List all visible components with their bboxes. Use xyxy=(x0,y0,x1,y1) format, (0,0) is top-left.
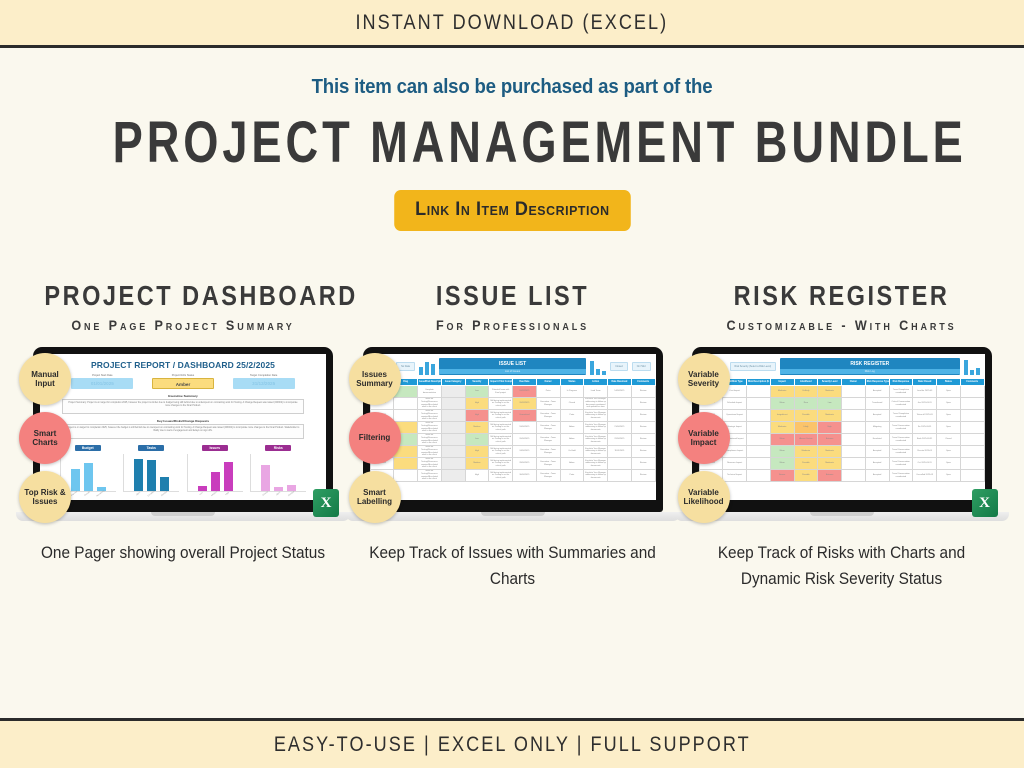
table-cell xyxy=(747,410,771,422)
card-subtitle: For Professionals xyxy=(364,317,660,333)
table-cell: Travel Completion coordinated xyxy=(889,410,913,422)
table-cell xyxy=(441,446,465,458)
feature-badges: Variable Severity Variable Impact Variab… xyxy=(678,353,730,523)
sheet-subtitle: List of Issues xyxy=(439,369,586,374)
table-cell: Adam xyxy=(560,422,584,434)
minichart-axis: LowMediumHigh xyxy=(187,493,243,495)
section-body: Project is on target for completion 2025… xyxy=(62,424,304,439)
table-cell: Potential Issue with Final project xyxy=(489,386,513,398)
card-title: RISK REGISTER xyxy=(703,280,979,312)
section-heading: Key Issues/Risks/Change Requests xyxy=(62,419,304,423)
column-header[interactable]: Owner xyxy=(842,379,866,386)
table-row[interactable]: 016/2025Schedule ImpactMinorRareLowTrans… xyxy=(699,398,984,410)
status-box-start-date: Project Start Date 01/01/2025 xyxy=(71,374,133,389)
table-row[interactable]: 017/2025Items for Testing/Resources requ… xyxy=(370,410,655,422)
minichart-bar xyxy=(147,460,156,491)
link-in-item-description-button[interactable]: Link in Item Description xyxy=(394,190,630,231)
headline-subtitle: This item can also be purchased as part … xyxy=(36,76,988,99)
table-cell: Still being implemented on Testing is on… xyxy=(489,446,513,458)
laptop-screen: Risk Severity (Select a Risk Level) RISK… xyxy=(692,347,992,512)
table-cell: Open xyxy=(937,386,961,398)
table-cell: Closed xyxy=(560,398,584,410)
table-cell: Still being implemented on Testing is on… xyxy=(489,410,513,422)
minichart-axis: ClosedOpenOverdue xyxy=(250,493,306,495)
column-header[interactable]: Due Date xyxy=(513,379,537,386)
bottom-banner: EASY-TO-USE | EXCEL ONLY | FULL SUPPORT xyxy=(0,718,1024,768)
key-issues-section: Key Issues/Risks/Change Requests Project… xyxy=(62,419,304,439)
status-box-label: Project RAG Status xyxy=(152,374,214,377)
laptop-mockup-issue-list: Issues Summary Filtering Smart Labelling… xyxy=(363,347,663,521)
table-cell: Review xyxy=(631,386,655,398)
table-row[interactable]: 020/2025Compliance ImpactMinorModerateMo… xyxy=(699,446,984,458)
table-cell: Severe xyxy=(770,470,794,482)
table-cell: In Progress xyxy=(560,386,584,398)
risk-table: ReferenceRisk/Risk TypeRisk Description … xyxy=(699,378,985,482)
column-header[interactable]: Comments xyxy=(631,379,655,386)
table-cell xyxy=(747,422,771,434)
table-cell: Still being implemented on Testing is on… xyxy=(489,422,513,434)
badge-smart-labelling: Smart Labelling xyxy=(349,471,401,523)
badge-top-risk-issues: Top Risk & Issues xyxy=(19,471,71,523)
table-cell: Open xyxy=(937,422,961,434)
table-row[interactable]: 021/2025Resource ImpactMinorPossibleMode… xyxy=(699,458,984,470)
top-banner: INSTANT DOWNLOAD (EXCEL) xyxy=(0,0,1024,48)
table-cell: Transferred xyxy=(865,398,889,410)
filter-pill[interactable]: On Hold xyxy=(632,362,651,371)
table-cell: Travel Completion coordinated xyxy=(889,386,913,398)
table-cell: Taken off 2025-03 xyxy=(913,410,937,422)
product-card-risk-register: RISK REGISTER Customizable - With Charts… xyxy=(677,280,1006,592)
product-card-project-dashboard: PROJECT DASHBOARD One Page Project Summa… xyxy=(18,280,348,592)
screen-content: Risk Severity (Select a Risk Level) RISK… xyxy=(699,354,985,500)
table-cell: Moderate xyxy=(818,410,842,422)
table-cell: 20/03/2025 xyxy=(513,398,537,410)
card-title: PROJECT DASHBOARD xyxy=(44,280,321,312)
column-header[interactable]: Severity xyxy=(465,379,489,386)
column-header[interactable]: Status xyxy=(560,379,584,386)
table-cell: Executive - Team Manager xyxy=(536,398,560,410)
card-caption: Keep Track of Risks with Charts and Dyna… xyxy=(689,541,995,592)
table-cell: Minor xyxy=(770,458,794,470)
laptop-mockup-dashboard: Manual Input Smart Charts Top Risk & Iss… xyxy=(33,347,333,521)
table-cell: 24/04/2025 xyxy=(513,446,537,458)
table-cell: Still being implemented on Testing is on… xyxy=(489,434,513,446)
table-cell: Still being implemented on Testing is on… xyxy=(489,458,513,470)
table-cell: Escalate Your Manager addressing to foll… xyxy=(584,470,608,482)
table-cell xyxy=(960,446,984,458)
table-cell: 21/04/2025 xyxy=(608,422,632,434)
table-cell: Likely xyxy=(794,422,818,434)
sheet-title-banner: ISSUE LIST List of Issues xyxy=(439,358,586,375)
bar xyxy=(590,361,594,375)
table-cell: Adam xyxy=(560,434,584,446)
table-cell: Accepted xyxy=(865,410,889,422)
table-cell: Travel Conversation coordinated xyxy=(889,458,913,470)
table-cell: Accepted xyxy=(865,386,889,398)
table-cell: Open xyxy=(937,446,961,458)
table-cell: Escalate Your Manager addressing to foll… xyxy=(584,434,608,446)
cta-row: Link in Item Description xyxy=(0,190,1024,231)
table-cell: Items for Testing/Resources required/Esc… xyxy=(418,422,442,434)
bar xyxy=(976,368,980,375)
minichart-plot xyxy=(187,454,243,492)
table-cell: Possible xyxy=(794,458,818,470)
bar xyxy=(602,371,606,375)
table-cell xyxy=(747,458,771,470)
page-title: PROJECT MANAGEMENT BUNDLE xyxy=(113,113,912,174)
column-header[interactable]: Impact if Not Completed xyxy=(489,379,513,386)
screen-content: Overall No Data ISSUE LIST List of Issue… xyxy=(370,354,656,500)
table-cell: Open xyxy=(937,458,961,470)
table-cell: Minor xyxy=(770,398,794,410)
sheet-title-banner: RISK REGISTER Risk Log xyxy=(780,358,959,375)
laptop-screen: PROJECT REPORT / DASHBOARD 25/2/2025 Pro… xyxy=(33,347,333,512)
table-cell: High xyxy=(465,398,489,410)
table-cell: Extreme xyxy=(818,434,842,446)
table-cell: Accepted xyxy=(865,470,889,482)
table-cell: Closed xyxy=(937,434,961,446)
table-cell xyxy=(441,434,465,446)
table-cell: Jun 2025-03-31 xyxy=(913,398,937,410)
column-header[interactable]: Severity Level xyxy=(818,379,842,386)
table-row[interactable]: 022/2025Items for Testing/Resources requ… xyxy=(370,470,655,482)
table-cell: Mitigating xyxy=(865,422,889,434)
minichart-bar xyxy=(160,477,169,491)
table-cell: Unlikely xyxy=(794,386,818,398)
badge-variable-likelihood: Variable Likelihood xyxy=(678,471,730,523)
table-row[interactable]: 018/2025Items for Testing/Resources requ… xyxy=(370,422,655,434)
table-cell: Re-rate 2025-03 xyxy=(913,446,937,458)
table-cell: High xyxy=(818,422,842,434)
minichart-bar xyxy=(261,465,270,491)
minichart-bar xyxy=(84,463,93,491)
table-cell: Still being implemented on Testing is on… xyxy=(489,398,513,410)
table-cell: Travel Conversation coordinated xyxy=(889,446,913,458)
table-cell: Moderate xyxy=(818,446,842,458)
table-cell: Oct 2025-03-31 xyxy=(913,458,937,470)
table-cell: Travel Conversation coordinated xyxy=(889,434,913,446)
table-cell: Low xyxy=(818,398,842,410)
laptop-notch xyxy=(151,512,215,516)
table-cell xyxy=(960,398,984,410)
column-header[interactable]: Date Resolved xyxy=(608,379,632,386)
table-cell xyxy=(441,422,465,434)
status-minichart xyxy=(964,359,980,375)
minichart-title: Risks xyxy=(265,445,291,451)
table-cell xyxy=(842,386,866,398)
table-cell xyxy=(842,422,866,434)
table-cell: Extreme xyxy=(818,470,842,482)
filter-pill[interactable]: Closed xyxy=(610,362,627,371)
table-cell: Possible xyxy=(794,470,818,482)
minichart-bar xyxy=(71,469,80,491)
table-cell: Adam xyxy=(560,458,584,470)
bar xyxy=(431,364,435,375)
severity-legend-label: Risk Severity (Select a Risk Level) xyxy=(730,362,777,371)
sheet-subtitle: Risk Log xyxy=(780,369,959,374)
table-cell: Items for Testing/Resources required/Esc… xyxy=(418,458,442,470)
section-heading: Executive Summary xyxy=(62,394,304,398)
table-cell: Lead for 2025-03 xyxy=(913,386,937,398)
column-header[interactable]: Action xyxy=(584,379,608,386)
status-box-label: Project Start Date xyxy=(71,374,133,377)
table-cell: Travel Conversation coordinated xyxy=(889,422,913,434)
table-cell xyxy=(747,434,771,446)
table-cell: Peter xyxy=(536,386,560,398)
table-cell: Possible xyxy=(794,410,818,422)
table-cell: High xyxy=(465,446,489,458)
table-cell xyxy=(441,470,465,482)
table-row[interactable]: 020/2025Items for Testing/Resources requ… xyxy=(370,446,655,458)
table-cell: High xyxy=(465,470,489,482)
table-cell xyxy=(441,386,465,398)
table-cell: Bank 2025-03-31 xyxy=(913,434,937,446)
badge-issues-summary: Issues Summary xyxy=(349,353,401,405)
product-card-issue-list: ISSUE LIST For Professionals Issues Summ… xyxy=(348,280,677,592)
table-cell: Executive - Team Manager xyxy=(536,470,560,482)
card-subtitle: Customizable - With Charts xyxy=(693,317,989,333)
laptop-notch xyxy=(810,512,874,516)
table-cell: Rare xyxy=(794,398,818,410)
table-cell: Insignificant xyxy=(770,410,794,422)
table-row[interactable]: 015/2025Cost ImpactModerateUnlikelyModer… xyxy=(699,386,984,398)
column-header[interactable]: Status xyxy=(937,379,961,386)
table-cell: Moderate xyxy=(794,446,818,458)
table-cell: Accepted xyxy=(865,446,889,458)
table-cell xyxy=(747,398,771,410)
table-cell: Items for Testing/Resources required/Esc… xyxy=(418,446,442,458)
table-cell xyxy=(608,458,632,470)
table-cell: Moderate xyxy=(818,458,842,470)
card-title: ISSUE LIST xyxy=(374,280,650,312)
table-cell: Lead Team xyxy=(584,386,608,398)
table-row[interactable]: 016/2025Items for Testing/Resources requ… xyxy=(370,398,655,410)
sheet-title: RISK REGISTER xyxy=(850,361,889,367)
table-cell xyxy=(608,470,632,482)
table-cell: Critical Conversation coordinated xyxy=(889,398,913,410)
table-cell: Moderate xyxy=(770,386,794,398)
table-cell: Executive - Team Manager xyxy=(536,422,560,434)
table-cell: Review xyxy=(631,398,655,410)
table-row[interactable]: 017/2025Operational ImpactInsignificantP… xyxy=(699,410,984,422)
table-cell: Review xyxy=(631,470,655,482)
table-cell: Review xyxy=(631,422,655,434)
table-cell xyxy=(842,434,866,446)
table-cell: Items for Testing/Resources required/Esc… xyxy=(418,434,442,446)
minichart-title: Tasks xyxy=(138,445,164,451)
summary-minichart xyxy=(419,359,435,375)
badge-smart-charts: Smart Charts xyxy=(19,412,71,464)
table-cell xyxy=(842,470,866,482)
table-cell: Moderate xyxy=(818,386,842,398)
table-cell: 14/04/2025 xyxy=(608,386,632,398)
headline-section: This item can also be purchased as part … xyxy=(0,48,1024,231)
table-cell: Review xyxy=(631,434,655,446)
laptop-mockup-risk-register: Variable Severity Variable Impact Variab… xyxy=(692,347,992,521)
card-caption: One Pager showing overall Project Status xyxy=(30,541,337,567)
feature-badges: Manual Input Smart Charts Top Risk & Iss… xyxy=(19,353,71,523)
issue-table: ReferenceFlagIssue/Risk DescriptionIssue… xyxy=(370,378,656,482)
badge-variable-severity: Variable Severity xyxy=(678,353,730,405)
executive-summary-section: Executive Summary Project Summary: Proje… xyxy=(62,394,304,414)
column-header[interactable]: Owner xyxy=(536,379,560,386)
column-header[interactable]: Risk Response Type xyxy=(865,379,889,386)
table-cell: Open xyxy=(937,470,961,482)
status-box-label: Target Completion Date xyxy=(233,374,295,377)
table-cell: 30/04/2025 xyxy=(513,470,537,482)
table-row[interactable]: 015/2025Complete documentationLowPotenti… xyxy=(370,386,655,398)
column-header[interactable]: Date Closed xyxy=(913,379,937,386)
top-banner-text: INSTANT DOWNLOAD (EXCEL) xyxy=(356,11,669,35)
table-cell: Escalate Your Manager addressing to foll… xyxy=(584,422,608,434)
table-cell: Complete documentation xyxy=(418,386,442,398)
table-cell xyxy=(608,398,632,410)
table-header-row: ReferenceFlagIssue/Risk DescriptionIssue… xyxy=(370,379,655,386)
card-subtitle: One Page Project Summary xyxy=(35,317,332,333)
issue-list-spreadsheet: Overall No Data ISSUE LIST List of Issue… xyxy=(370,354,656,500)
table-cell: Executive - Team Manager xyxy=(536,434,560,446)
table-cell: Open xyxy=(937,410,961,422)
badge-manual-input: Manual Input xyxy=(19,353,71,405)
table-cell: 20/04/2025 xyxy=(513,434,537,446)
table-cell: Review xyxy=(631,446,655,458)
minichart-axis: OpenCompleteOverdue xyxy=(123,493,179,495)
column-header[interactable]: Risk Description (E - Work, if possible) xyxy=(747,379,771,386)
minichart-bar xyxy=(211,472,220,491)
minichart-title: Issues xyxy=(202,445,228,451)
table-cell xyxy=(842,458,866,470)
table-cell: 11/05/2025 xyxy=(608,446,632,458)
column-header[interactable]: Impact xyxy=(770,379,794,386)
table-cell xyxy=(747,386,771,398)
table-cell: Executive - Team Manager xyxy=(536,446,560,458)
table-cell: 18/04/2025 xyxy=(513,422,537,434)
table-row[interactable]: 018/2025Strategic ImpactModerateLikelyHi… xyxy=(699,422,984,434)
bar xyxy=(419,367,423,375)
excel-icon: X xyxy=(972,489,998,517)
table-cell xyxy=(747,446,771,458)
table-cell: Escalate Your Manager addressing to foll… xyxy=(584,410,608,422)
section-body: Project Summary: Project is on target fo… xyxy=(62,399,304,414)
minichart-issues: IssuesLowMediumHigh xyxy=(187,445,243,495)
dashboard-charts: BudgetPlannedActualsRemainingTasksOpenCo… xyxy=(40,439,326,495)
table-cell: Unresolved xyxy=(513,410,537,422)
minichart-risks: RisksClosedOpenOverdue xyxy=(250,445,306,495)
table-cell xyxy=(842,410,866,422)
summary-minichart xyxy=(590,359,606,375)
table-cell xyxy=(441,458,465,470)
bottom-banner-text: EASY-TO-USE | EXCEL ONLY | FULL SUPPORT xyxy=(274,733,751,757)
table-cell: Review xyxy=(631,458,655,470)
table-header-row: ReferenceRisk/Risk TypeRisk Description … xyxy=(699,379,984,386)
table-cell xyxy=(842,446,866,458)
table-cell: 28/04/2025 xyxy=(513,458,537,470)
table-cell: Medium xyxy=(465,458,489,470)
minichart-bar xyxy=(198,486,207,491)
bar xyxy=(596,369,600,375)
table-cell: 16/03/2025 xyxy=(513,386,537,398)
table-cell: Travel Conversation coordinated xyxy=(889,470,913,482)
table-cell: Peter xyxy=(560,410,584,422)
table-cell: Accepted xyxy=(865,458,889,470)
minichart-tasks: TasksOpenCompleteOverdue xyxy=(123,445,179,495)
minichart-bar xyxy=(224,462,233,491)
column-header[interactable]: Issue Category xyxy=(441,379,465,386)
table-cell: Escalated xyxy=(865,434,889,446)
table-cell: Fix 2025-03-31 xyxy=(913,422,937,434)
table-cell xyxy=(842,398,866,410)
sheet-title: ISSUE LIST xyxy=(499,361,526,367)
bar xyxy=(425,362,429,375)
table-row[interactable]: 021/2025Items for Testing/Resources requ… xyxy=(370,458,655,470)
column-header[interactable]: Likelihood xyxy=(794,379,818,386)
minichart-bar xyxy=(287,485,296,491)
status-badge: Amber xyxy=(152,378,214,389)
badge-variable-impact: Variable Impact xyxy=(678,412,730,464)
minichart-plot xyxy=(123,454,179,492)
table-cell: Review xyxy=(631,410,655,422)
table-cell xyxy=(960,386,984,398)
risk-register-spreadsheet: Risk Severity (Select a Risk Level) RISK… xyxy=(699,354,985,500)
column-header[interactable]: Comments xyxy=(960,379,984,386)
card-caption: Keep Track of Issues with Summaries and … xyxy=(360,541,666,592)
minichart-title: Budget xyxy=(75,445,101,451)
table-cell: 22/04/2025 xyxy=(608,434,632,446)
table-cell: Low xyxy=(465,386,489,398)
table-cell: Escalate Your Manager addressing to foll… xyxy=(584,398,608,410)
table-cell xyxy=(441,410,465,422)
table-cell: Cancelled 2025-03 xyxy=(913,470,937,482)
table-cell: Still being implemented on Testing is on… xyxy=(489,470,513,482)
risk-toolbar: Risk Severity (Select a Risk Level) RISK… xyxy=(699,354,985,378)
table-row[interactable]: 019/2025Items for Testing/Resources requ… xyxy=(370,434,655,446)
table-cell: High xyxy=(465,410,489,422)
table-cell: Items for Testing/Resources required/Esc… xyxy=(418,410,442,422)
table-cell: Low xyxy=(465,434,489,446)
table-row[interactable]: 019/2025Reputational ImpactMinorAlmost C… xyxy=(699,434,984,446)
table-row[interactable]: 022/2025Technical ImpactSeverePossibleEx… xyxy=(699,470,984,482)
product-cards: PROJECT DASHBOARD One Page Project Summa… xyxy=(0,280,1024,592)
column-header[interactable]: Issue/Risk Description xyxy=(418,379,442,386)
table-cell xyxy=(960,458,984,470)
table-cell: Escalate Your Manager addressing to foll… xyxy=(584,458,608,470)
excel-icon: X xyxy=(313,489,339,517)
laptop-notch xyxy=(481,512,545,516)
table-cell: Executive - Team Manager xyxy=(536,458,560,470)
badge-filtering: Filtering xyxy=(349,412,401,464)
table-cell: Executive - Team Manager xyxy=(536,410,560,422)
dashboard-title: PROJECT REPORT / DASHBOARD 25/2/2025 xyxy=(40,354,326,374)
column-header[interactable]: Risk Response xyxy=(889,379,913,386)
table-cell xyxy=(608,410,632,422)
table-cell xyxy=(441,398,465,410)
table-cell: Minor xyxy=(770,446,794,458)
issue-toolbar: Overall No Data ISSUE LIST List of Issue… xyxy=(370,354,656,378)
table-cell xyxy=(747,470,771,482)
minichart-bar xyxy=(134,459,143,491)
table-cell: Minor xyxy=(770,434,794,446)
table-cell: Almost Certain xyxy=(794,434,818,446)
table-cell xyxy=(960,422,984,434)
table-cell: Open xyxy=(937,398,961,410)
laptop-screen: Overall No Data ISSUE LIST List of Issue… xyxy=(363,347,663,512)
table-cell: On Hold xyxy=(560,446,584,458)
status-box-target-date: Target Completion Date 31/12/2025 xyxy=(233,374,295,389)
table-cell: Peter xyxy=(560,470,584,482)
table-cell xyxy=(960,470,984,482)
table-cell xyxy=(960,410,984,422)
table-cell: Moderate xyxy=(770,422,794,434)
